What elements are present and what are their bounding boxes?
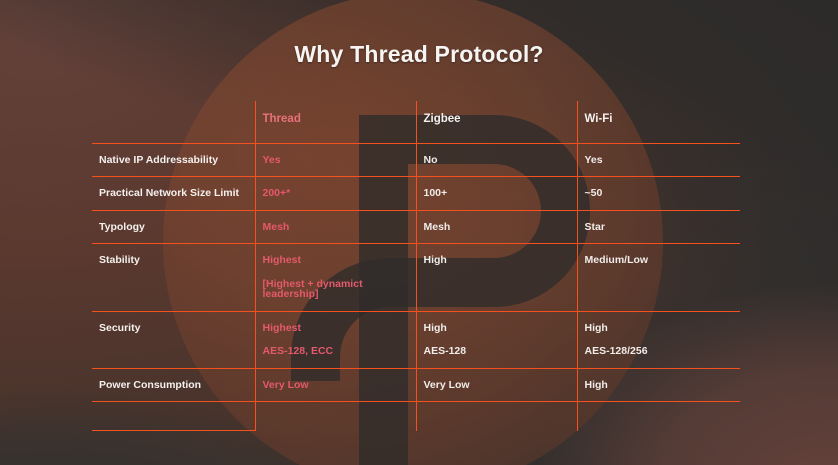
cell-zigbee-security: High AES-128 bbox=[416, 311, 577, 368]
protocol-comparison-table: Thread Zigbee Wi-Fi Native IP Addressabi… bbox=[92, 101, 740, 431]
column-header-thread: Thread bbox=[255, 101, 416, 143]
cell-thread-power: Very Low bbox=[255, 368, 416, 402]
row-label-network-size: Practical Network Size Limit bbox=[92, 177, 255, 211]
table-row: Typology Mesh Mesh Star bbox=[92, 210, 740, 244]
table-row: Stability Highest [Highest + dynamict le… bbox=[92, 244, 740, 312]
column-header-wifi: Wi-Fi bbox=[577, 101, 740, 143]
table-footer-rule-extension bbox=[92, 402, 740, 431]
table-row: Security Highest AES-128, ECC High AES-1… bbox=[92, 311, 740, 368]
cell-zigbee-power: Very Low bbox=[416, 368, 577, 402]
row-label-security: Security bbox=[92, 311, 255, 368]
stub-cell-zigbee bbox=[416, 402, 577, 431]
cell-thread-stability: Highest [Highest + dynamict leadership] bbox=[255, 244, 416, 312]
table-row: Practical Network Size Limit 200+* 100+ … bbox=[92, 177, 740, 211]
cell-wifi-security: High AES-128/256 bbox=[577, 311, 740, 368]
column-header-wifi-label: Wi-Fi bbox=[578, 113, 613, 125]
stub-cell-thread bbox=[255, 402, 416, 431]
table-row: Native IP Addressability Yes No Yes bbox=[92, 143, 740, 177]
cell-thread-native-ip: Yes bbox=[255, 143, 416, 177]
column-header-thread-label: Thread bbox=[256, 113, 301, 125]
row-label-stability: Stability bbox=[92, 244, 255, 312]
cell-zigbee-security-detail: AES-128 bbox=[417, 346, 569, 357]
cell-wifi-network-size: ~50 bbox=[577, 177, 740, 211]
comparison-table-wrapper: Thread Zigbee Wi-Fi Native IP Addressabi… bbox=[92, 101, 740, 421]
column-header-zigbee: Zigbee bbox=[416, 101, 577, 143]
slide-canvas: Why Thread Protocol? Thread Zigbee Wi-Fi… bbox=[0, 0, 838, 465]
cell-wifi-security-detail: AES-128/256 bbox=[578, 346, 733, 357]
column-header-zigbee-label: Zigbee bbox=[417, 113, 461, 125]
cell-thread-stability-detail: [Highest + dynamict leadership] bbox=[256, 279, 408, 300]
row-label-typology: Typology bbox=[92, 210, 255, 244]
page-title: Why Thread Protocol? bbox=[0, 41, 838, 68]
cell-thread-security-detail: AES-128, ECC bbox=[256, 346, 408, 357]
row-label-power: Power Consumption bbox=[92, 368, 255, 402]
table-header-row: Thread Zigbee Wi-Fi bbox=[92, 101, 740, 143]
table-row: Power Consumption Very Low Very Low High bbox=[92, 368, 740, 402]
cell-wifi-typology: Star bbox=[577, 210, 740, 244]
cell-zigbee-native-ip: No bbox=[416, 143, 577, 177]
cell-thread-security: Highest AES-128, ECC bbox=[255, 311, 416, 368]
cell-wifi-stability: Medium/Low bbox=[577, 244, 740, 312]
stub-cell-label bbox=[92, 402, 255, 431]
cell-wifi-native-ip: Yes bbox=[577, 143, 740, 177]
cell-thread-network-size: 200+* bbox=[255, 177, 416, 211]
cell-zigbee-typology: Mesh bbox=[416, 210, 577, 244]
cell-zigbee-network-size: 100+ bbox=[416, 177, 577, 211]
column-header-blank bbox=[92, 101, 255, 143]
row-label-native-ip: Native IP Addressability bbox=[92, 143, 255, 177]
cell-wifi-power: High bbox=[577, 368, 740, 402]
cell-zigbee-stability: High bbox=[416, 244, 577, 312]
cell-thread-typology: Mesh bbox=[255, 210, 416, 244]
stub-cell-wifi bbox=[577, 402, 740, 431]
